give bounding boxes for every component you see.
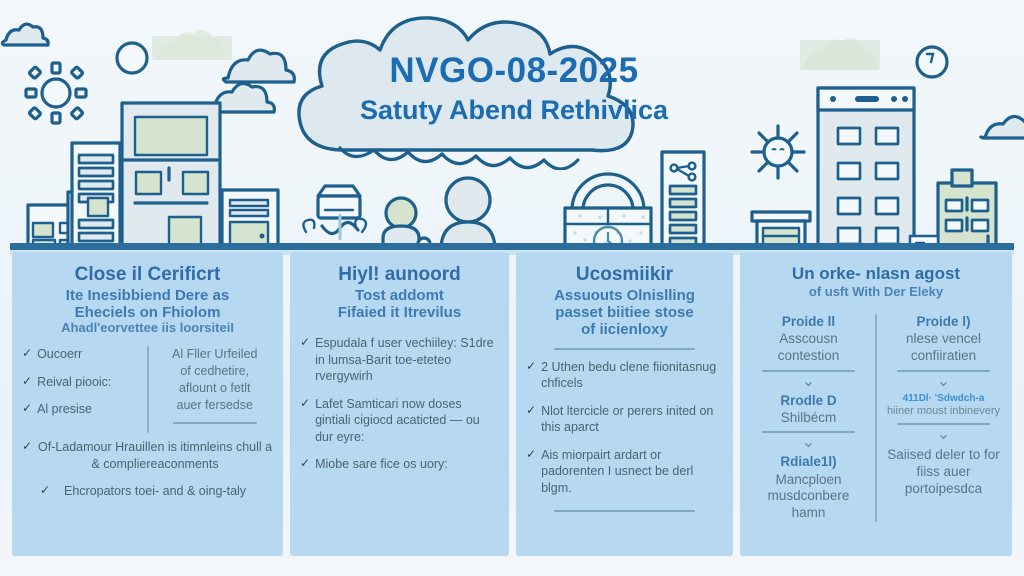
step-label: Proide ll: [782, 314, 835, 330]
section-divider: [554, 510, 696, 512]
step-body: nlese vencel confiiratien: [885, 331, 1002, 364]
step-divider: [762, 370, 856, 372]
panel-1-right-line-2: of cedhetire,: [157, 363, 274, 380]
panel-3-subheading-line-3: of iicienloxy: [526, 321, 723, 338]
panel-4-right-flow: Proide l) nlese vencel confiiratien ⌄ 41…: [885, 314, 1002, 522]
infographic-canvas: .ol { fill:none; stroke:#1d5f8d; stroke-…: [0, 0, 1024, 576]
list-item[interactable]: ✓ Oucoerr: [22, 346, 139, 363]
step-divider: [897, 423, 991, 425]
chevron-down-icon: ⌄: [937, 427, 950, 443]
list-item-label: Oucoerr: [37, 346, 138, 363]
step-body: Shilbécm: [781, 410, 837, 427]
panel-row: Close il Cerificrt Ite Inesibbiend Dere …: [0, 252, 1024, 556]
step-divider: [762, 431, 856, 433]
panel-1-heading: Close il Cerificrt: [22, 264, 273, 285]
list-item[interactable]: ✓ 2 Uthen bedu clene fiionitasnug chfice…: [526, 359, 723, 392]
chevron-down-icon: ⌄: [802, 435, 815, 451]
list-item-label: Ais miorpairt ardart or padorenten I usn…: [541, 447, 723, 497]
cloud-icon: [2, 24, 48, 45]
list-item[interactable]: ✓ Reival piooic:: [22, 374, 139, 391]
panel-1-subheading-thin: Ahadl'eorvettee iis loorsiteiI: [22, 321, 273, 336]
panel-un-orke-nlasn-agost[interactable]: Un orke- nlasn agost of usft With Der El…: [740, 252, 1012, 556]
chevron-down-icon: ⌄: [937, 374, 950, 390]
panel-4-left-flow: Proide ll Asscousn contestion ⌄ Rrodle D…: [750, 314, 867, 522]
panel-2-heading: Hiyl! aunoord: [300, 264, 499, 285]
page-subtitle: Satuty Abend Rethivlica: [360, 96, 668, 124]
list-item[interactable]: ✓ Ais miorpairt ardart or padorenten I u…: [526, 447, 723, 497]
list-item[interactable]: ✓ Espudala f user vechiiley: S1dre in lu…: [300, 335, 499, 385]
list-item-label: Miobe sare fice os uory:: [315, 456, 499, 473]
chevron-down-icon: ⌄: [802, 374, 815, 390]
step-accent-label: 411Dl· 'Sdwdch-a: [903, 393, 985, 404]
person-icon: [441, 178, 495, 250]
list-item-label: Al presise: [37, 401, 138, 418]
panel-3-subheading-line-1: Assuouts Olnislling: [526, 287, 723, 304]
ground-line: [10, 243, 1014, 250]
list-item[interactable]: ✓ Of-Ladamour Hrauillen is itimnleins ch…: [22, 439, 273, 472]
check-icon: ✓: [300, 456, 310, 473]
list-item-label: Of-Ladamour Hrauillen is itimnleins chul…: [37, 439, 273, 472]
panel-4-subheading: of usft With Der Eleky: [750, 285, 1002, 300]
list-item-label: Reival piooic:: [37, 374, 138, 391]
panel-1-right-line-1: Al Fller Urfeiled: [157, 346, 274, 363]
step-body: Mancploen musdconbere hamn: [750, 472, 867, 522]
panel-1-columns: ✓ Oucoerr ✓ Reival piooic: ✓ Al presise …: [22, 346, 273, 433]
list-item[interactable]: ✓ Lafet Samticari now doses gintiali cig…: [300, 396, 499, 446]
cloud-icon: [981, 116, 1024, 138]
list-item[interactable]: ✓ Al presise: [22, 401, 139, 418]
panel-2-subheading-line-1: Tost addomt: [300, 287, 499, 304]
building-group-right: [752, 88, 996, 250]
check-icon: ✓: [40, 483, 50, 500]
section-divider: [173, 422, 257, 424]
panel-1-left-column: ✓ Oucoerr ✓ Reival piooic: ✓ Al presise: [22, 346, 139, 433]
list-item[interactable]: ✓ Ehcropators toei- and & oing-taly: [22, 483, 273, 500]
title-cloud-banner: NVGO-08-2025 Satuty Abend Rethivlica: [288, 8, 740, 170]
panel-3-heading: Ucosmiikir: [526, 264, 723, 285]
panel-2-list: ✓ Espudala f user vechiiley: S1dre in lu…: [300, 335, 499, 473]
panel-1-subheading-line-2: Eheciels on Fhiolom: [22, 304, 273, 321]
list-item-label: Espudala f user vechiiley: S1dre in lums…: [315, 335, 499, 385]
virus-sun-icon: [752, 126, 804, 178]
panel-4-flow-columns: Proide ll Asscousn contestion ⌄ Rrodle D…: [750, 314, 1002, 522]
panel-2-subheading-line-2: Fifaied it Itrevilus: [300, 304, 499, 321]
list-item-label: Nlot ltercicle or perers inited on this …: [541, 403, 723, 436]
circle-icon: [117, 43, 147, 73]
check-icon: ✓: [22, 374, 32, 391]
step-label: Rrodle D: [780, 393, 836, 409]
step-label: Proide l): [916, 314, 970, 330]
page-title: NVGO-08-2025: [389, 53, 638, 90]
step-divider: [897, 370, 991, 372]
list-item-label: Ehcropators toei- and & oing-taly: [55, 483, 255, 500]
cloud-icon: [223, 50, 294, 82]
column-divider: [147, 346, 149, 433]
check-icon: ✓: [300, 396, 310, 446]
panel-1-right-line-3: aflount o fetlt: [157, 380, 274, 397]
robot-cat-icon: [303, 186, 366, 240]
step-label: Rdiale1l): [780, 454, 836, 470]
panel-1-subheading-line-1: Ite Inesibbiend Dere as: [22, 287, 273, 304]
sun-icon: [26, 63, 86, 123]
panel-close-certificate[interactable]: Close il Cerificrt Ite Inesibbiend Dere …: [12, 252, 283, 556]
list-item[interactable]: ✓ Miobe sare fice os uory:: [300, 456, 499, 473]
check-icon: ✓: [526, 403, 536, 436]
building-group-left: [28, 103, 278, 250]
check-icon: ✓: [300, 335, 310, 385]
check-icon: ✓: [22, 401, 32, 418]
basket-icon: [565, 174, 651, 252]
list-item-label: 2 Uthen bedu clene fiionitasnug chficels: [541, 359, 723, 392]
list-item[interactable]: ✓ Nlot ltercicle or perers inited on thi…: [526, 403, 723, 436]
panel-1-lower-list: ✓ Of-Ladamour Hrauillen is itimnleins ch…: [22, 439, 273, 500]
list-item-label: Lafet Samticari now doses gintiali cigio…: [315, 396, 499, 446]
panel-ucosmiikir[interactable]: Ucosmiikir Assuouts Olnislling passet bi…: [516, 252, 733, 556]
panel-1-right-line-4: auer fersedse: [157, 397, 274, 414]
section-divider: [554, 348, 696, 350]
check-icon: ✓: [526, 359, 536, 392]
check-icon: ✓: [526, 447, 536, 497]
step-body: Asscousn contestion: [750, 331, 867, 364]
step-body: hiiner moust inbinevery: [887, 405, 1000, 419]
panel-1-right-column: Al Fller Urfeiled of cedhetire, aflount …: [157, 346, 274, 433]
panel-3-list: ✓ 2 Uthen bedu clene fiionitasnug chfice…: [526, 359, 723, 497]
panel-4-heading: Un orke- nlasn agost: [750, 264, 1002, 283]
column-divider: [875, 314, 877, 522]
check-icon: ✓: [22, 439, 32, 472]
check-icon: ✓: [22, 346, 32, 363]
step-body: Saiised deler to for fiiss auer portoipe…: [885, 447, 1002, 497]
panel-3-subheading-line-2: passet biitiee stose: [526, 304, 723, 321]
panel-hiyl-aunoord[interactable]: Hiyl! aunoord Tost addomt Fifaied it Itr…: [290, 252, 509, 556]
circle-arrow-icon: [917, 47, 947, 77]
